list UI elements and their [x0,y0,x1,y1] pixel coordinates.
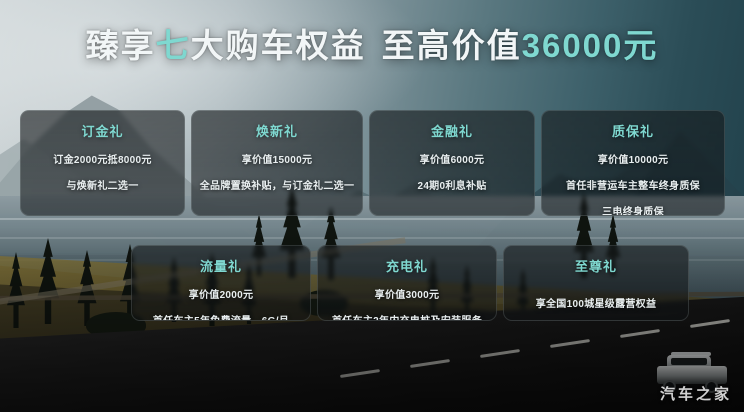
card-title: 流量礼 [132,256,310,275]
card-line: 首任非营运车主整车终身质保 [542,177,724,192]
benefit-card-finance[interactable]: 金融礼 享价值6000元 24期0利息补贴 [369,110,535,216]
headline-accent-seven: 七 [156,27,191,64]
headline-part-4: 元 [623,27,658,64]
card-line: 首任车主2年内充电桩及安装服务 [318,312,496,321]
card-line: 24期0利息补贴 [370,177,534,192]
benefit-card-warranty[interactable]: 质保礼 享价值10000元 首任非营运车主整车终身质保 三电终身质保 [541,110,725,216]
watermark-autohome: 汽车之家 [660,383,732,404]
card-line: 全品牌置换补贴，与订金礼二选一 [192,177,362,192]
headline-accent-amount: 36000 [522,27,624,64]
benefit-card-data-plan[interactable]: 流量礼 享价值2000元 首任车主5年免费流量，6G/月 [131,245,311,321]
headline-part-3: 至高价值 [382,27,522,64]
card-line: 享价值15000元 [192,151,362,166]
benefit-card-trade-in[interactable]: 焕新礼 享价值15000元 全品牌置换补贴，与订金礼二选一 [191,110,363,216]
card-title: 质保礼 [542,121,724,140]
card-title: 金融礼 [370,121,534,140]
benefit-card-charging[interactable]: 充电礼 享价值3000元 首任车主2年内充电桩及安装服务 [317,245,497,321]
card-line: 享价值10000元 [542,151,724,166]
card-line: 与焕新礼二选一 [21,177,184,192]
card-line: 三电终身质保 [542,203,724,216]
benefit-card-deposit[interactable]: 订金礼 订金2000元抵8000元 与焕新礼二选一 [20,110,185,216]
card-title: 订金礼 [21,121,184,140]
card-title: 充电礼 [318,256,496,275]
card-title: 焕新礼 [192,121,362,140]
suv-window [671,358,707,365]
water-streak [0,218,744,220]
card-line: 享价值6000元 [370,151,534,166]
card-title: 至尊礼 [504,256,688,275]
page-title: 臻享七大购车权益至高价值36000元 [0,28,744,64]
promo-banner: 臻享七大购车权益至高价值36000元 订金礼 订金2000元抵8000元 与焕新… [0,0,744,412]
card-line: 首任车主5年免费流量，6G/月 [132,312,310,321]
headline-part-1: 臻享 [86,27,156,64]
card-line: 享价值3000元 [318,286,496,301]
card-line: 享价值2000元 [132,286,310,301]
water-streak [0,237,744,239]
headline-part-2: 大购车权益 [191,27,366,64]
card-line: 订金2000元抵8000元 [21,151,184,166]
benefit-card-premium[interactable]: 至尊礼 享全国100城星级露营权益 [503,245,689,321]
card-line: 享全国100城星级露营权益 [504,295,688,310]
